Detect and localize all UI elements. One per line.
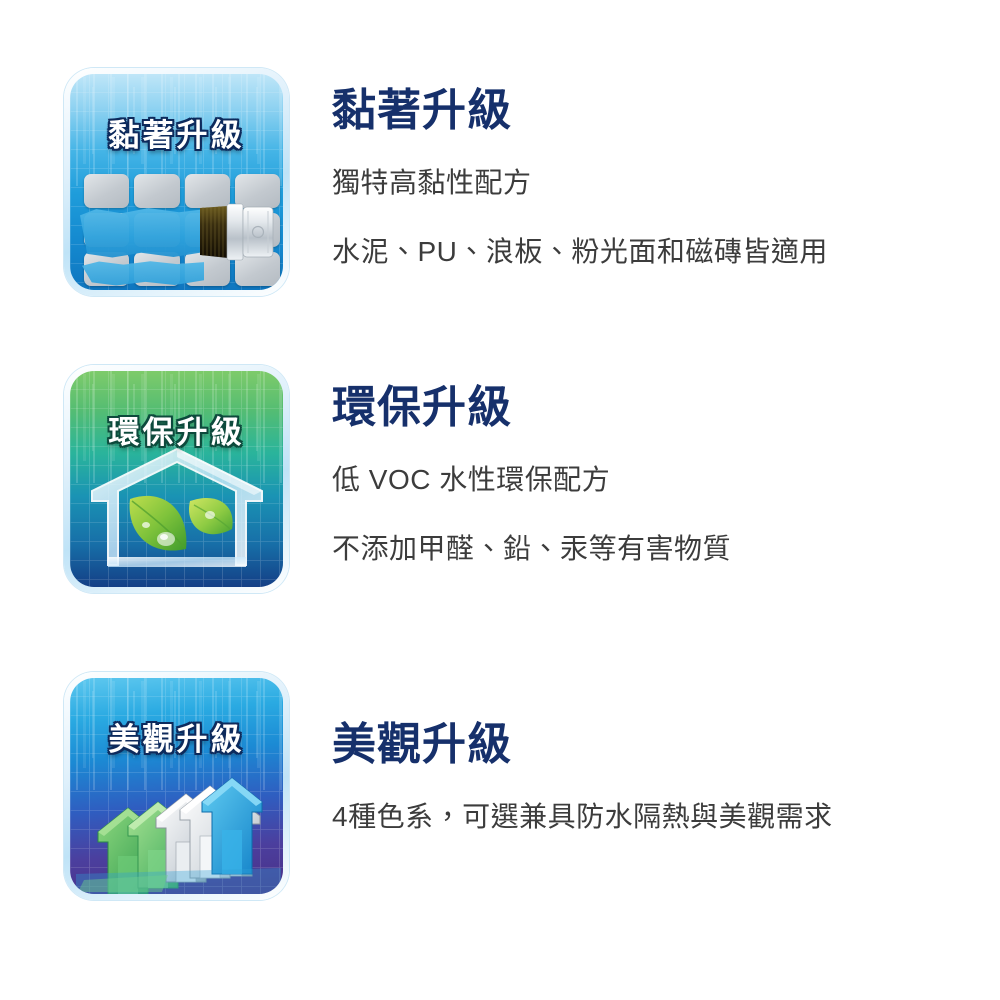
feature-line: 獨特高黏性配方 bbox=[332, 163, 1000, 204]
feature-text-adhesion: 黏著升級 獨特高黏性配方 水泥、PU、浪板、粉光面和磁磚皆適用 bbox=[289, 68, 1000, 300]
paint-stroke-lower-icon bbox=[82, 260, 204, 286]
aesthetic-upgrade-icon: 美觀升級 bbox=[64, 672, 289, 900]
feature-row-adhesion: 黏著升級 黏著升級 獨特高黏性配方 水泥、PU、浪板、粉光面和磁磚皆適用 bbox=[0, 68, 1000, 300]
tile bbox=[134, 174, 179, 208]
row-of-houses-icon bbox=[76, 762, 281, 894]
tile bbox=[84, 174, 129, 208]
feature-title-aesthetic: 美觀升級 bbox=[332, 720, 1000, 769]
icon-label-aesthetic: 美觀升級 bbox=[70, 714, 283, 759]
icon-background-aesthetic: 美觀升級 bbox=[70, 678, 283, 894]
feature-list-page: 黏著升級 黏著升級 獨特高黏性配方 水泥、PU、浪板、粉光面和磁磚皆適用 bbox=[0, 0, 1000, 1000]
feature-line: 低 VOC 水性環保配方 bbox=[332, 460, 1000, 501]
paintbrush-icon bbox=[198, 202, 282, 262]
feature-row-aesthetic: 美觀升級 美觀升級 4種色系，可選兼具防水隔熱與美觀需求 bbox=[0, 672, 1000, 900]
feature-description-adhesion: 獨特高黏性配方 水泥、PU、浪板、粉光面和磁磚皆適用 bbox=[332, 163, 1000, 272]
adhesion-upgrade-icon: 黏著升級 bbox=[64, 68, 289, 296]
feature-description-aesthetic: 4種色系，可選兼具防水隔熱與美觀需求 bbox=[332, 797, 1000, 838]
feature-line: 不添加甲醛、鉛、汞等有害物質 bbox=[332, 529, 1000, 570]
icon-label-adhesion: 黏著升級 bbox=[70, 110, 283, 155]
green-leaves-icon bbox=[116, 477, 242, 573]
feature-title-adhesion: 黏著升級 bbox=[332, 86, 1000, 135]
feature-line: 4種色系，可選兼具防水隔熱與美觀需求 bbox=[332, 797, 1000, 838]
feature-line: 水泥、PU、浪板、粉光面和磁磚皆適用 bbox=[332, 232, 1000, 273]
feature-text-aesthetic: 美觀升級 4種色系，可選兼具防水隔熱與美觀需求 bbox=[289, 672, 1000, 866]
feature-text-eco: 環保升級 低 VOC 水性環保配方 不添加甲醛、鉛、汞等有害物質 bbox=[289, 365, 1000, 597]
eco-upgrade-icon: 環保升級 bbox=[64, 365, 289, 593]
feature-title-eco: 環保升級 bbox=[332, 383, 1000, 432]
icon-background-eco: 環保升級 bbox=[70, 371, 283, 587]
icon-label-eco: 環保升級 bbox=[70, 407, 283, 452]
feature-description-eco: 低 VOC 水性環保配方 不添加甲醛、鉛、汞等有害物質 bbox=[332, 460, 1000, 569]
icon-background-adhesion: 黏著升級 bbox=[70, 74, 283, 290]
feature-row-eco: 環保升級 環保升級 低 VOC 水性環保配方 不添加甲醛、鉛、汞等有害物質 bbox=[0, 365, 1000, 597]
